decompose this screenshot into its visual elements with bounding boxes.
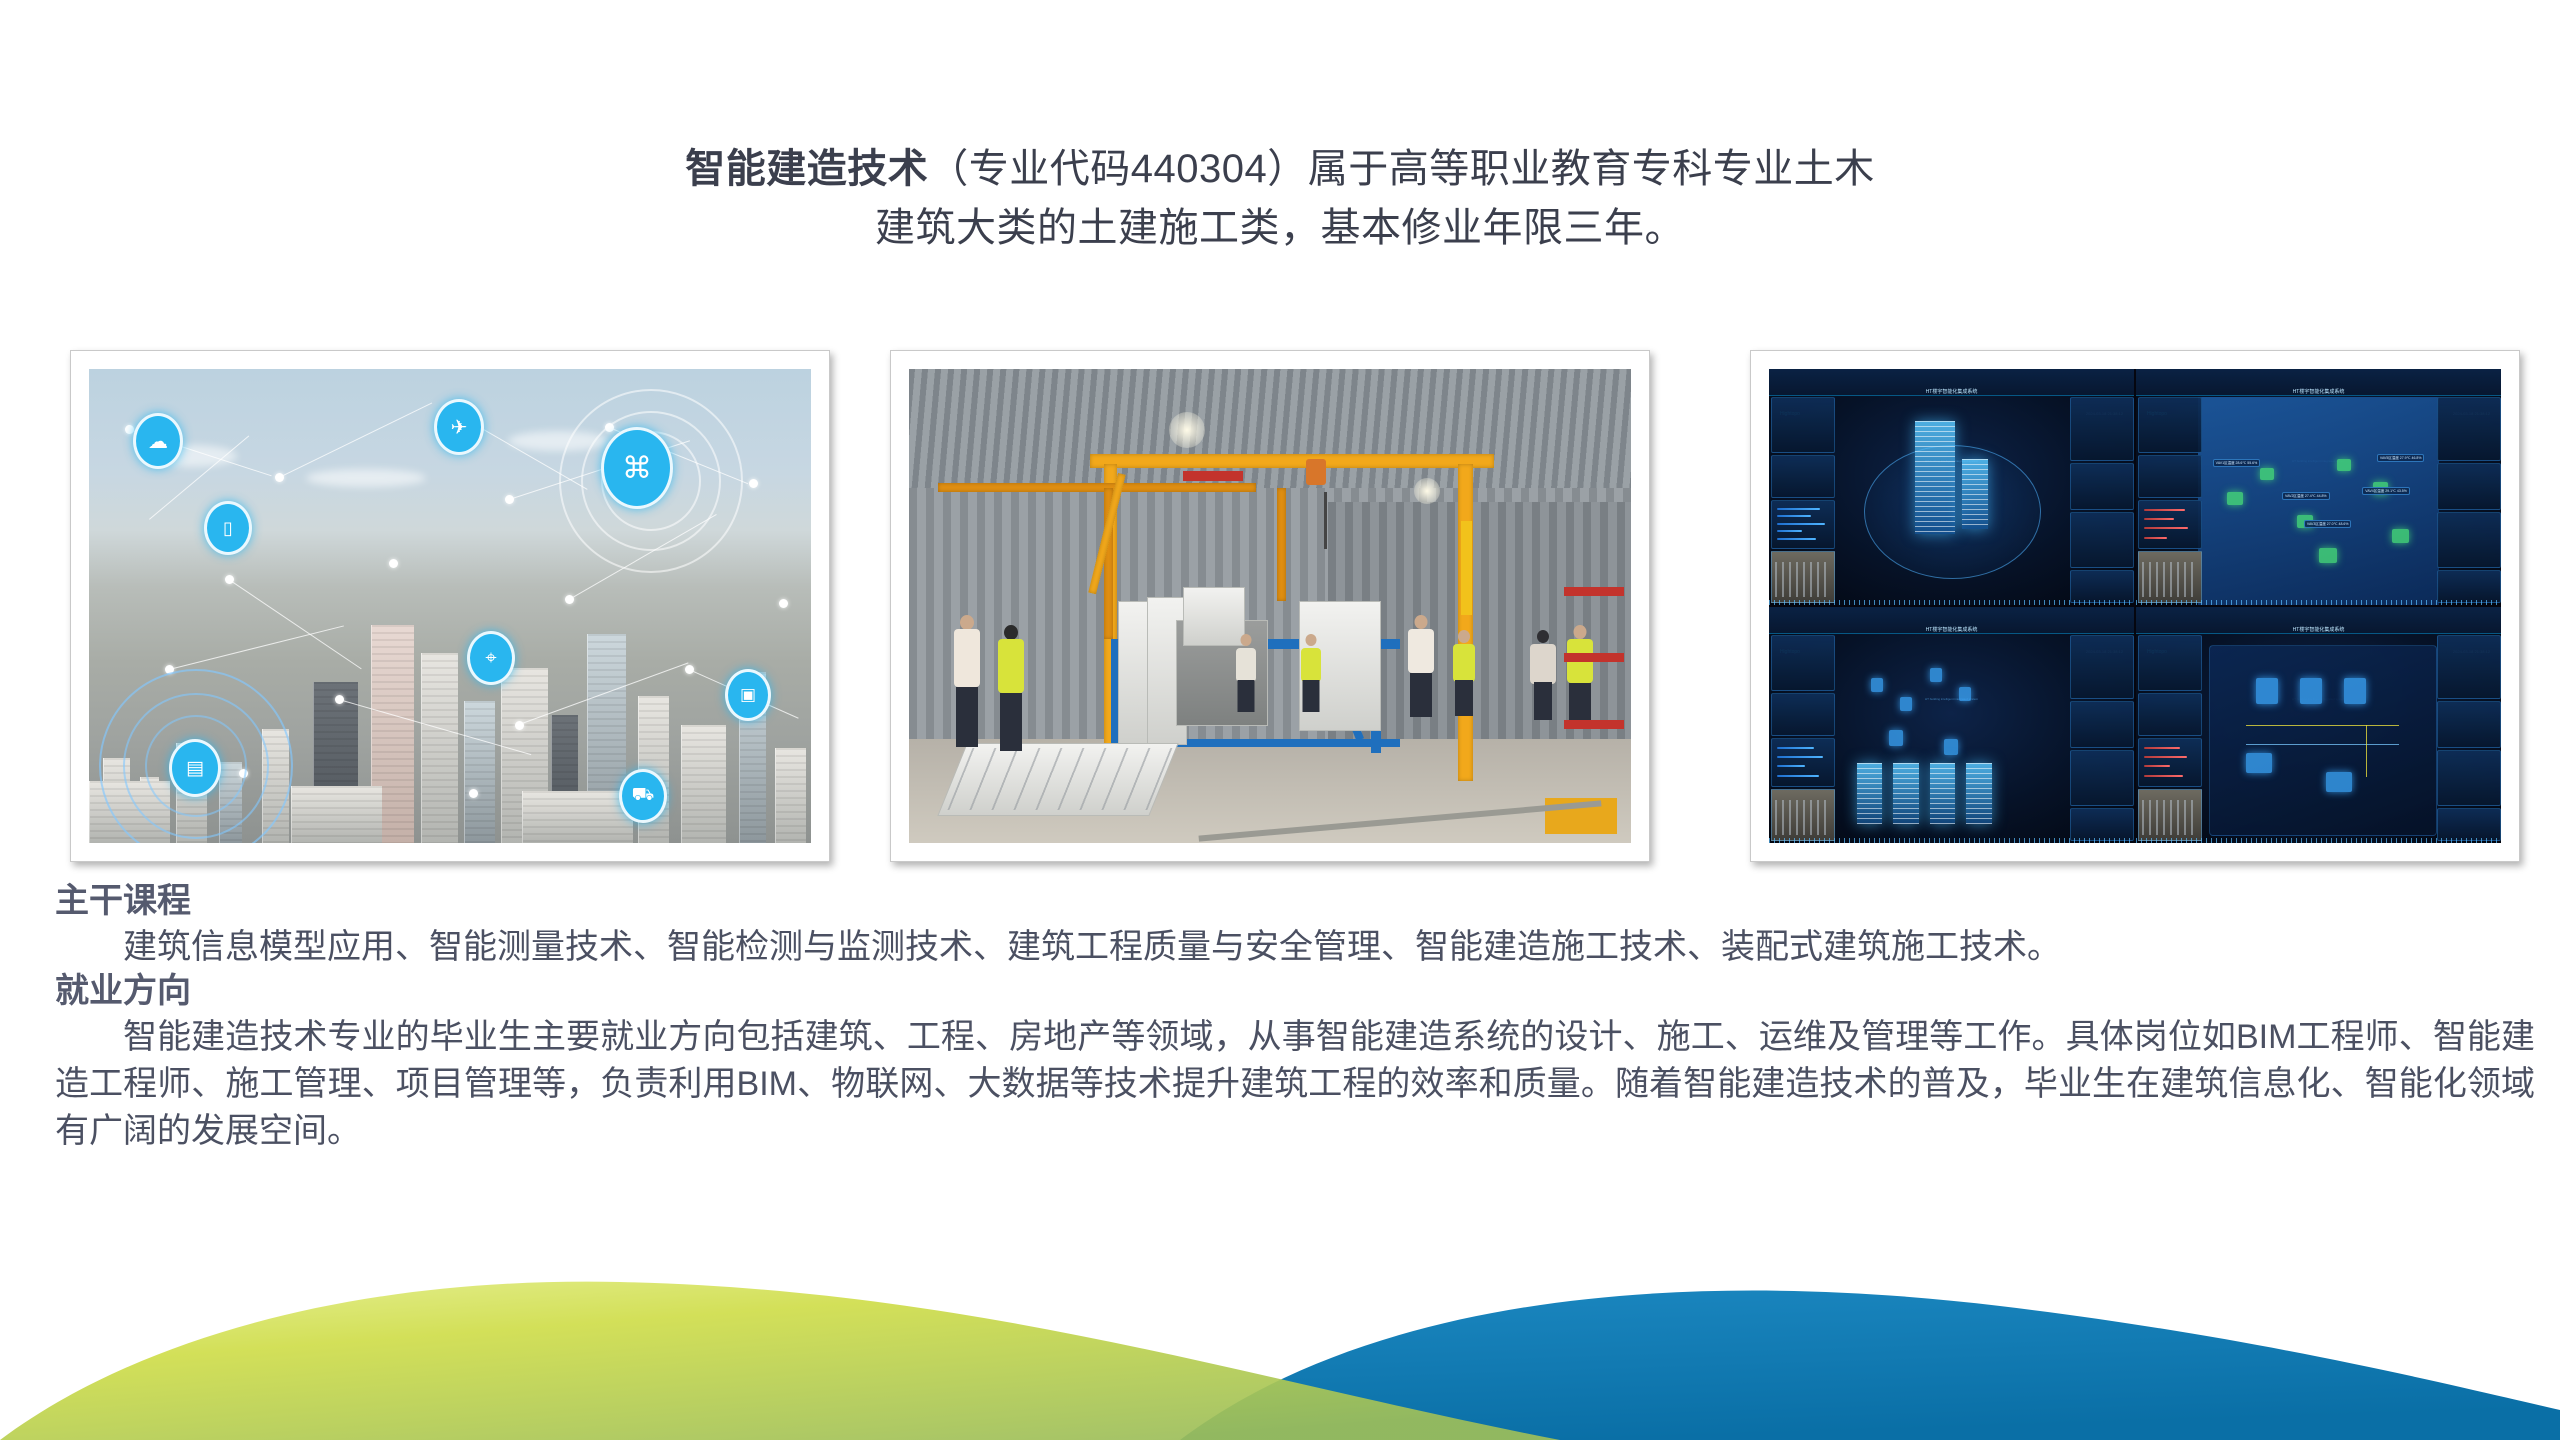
image-frame-bim-dashboard: Hightopo HT楼宇智能化集成系统 HT building intelli… xyxy=(1750,350,2520,862)
person xyxy=(1299,634,1323,757)
person xyxy=(1234,634,1258,757)
sensor-tag: VAV2区温度 27.4℃ 44.8% xyxy=(2282,492,2330,500)
workshop-illustration xyxy=(909,369,1631,843)
person xyxy=(1451,630,1477,763)
title-major-name: 智能建造技术 xyxy=(685,147,928,191)
image-frame-workshop xyxy=(890,350,1650,862)
dashboard-panel-building: Hightopo HT楼宇智能化集成系统 HT building intelli… xyxy=(1769,369,2134,605)
dashboard-panel-pipeline: Hightopo HT楼宇智能化集成系统 HT building intelli… xyxy=(1769,607,2134,843)
bim-dashboard-grid: Hightopo HT楼宇智能化集成系统 HT building intelli… xyxy=(1769,369,2501,843)
section-heading-core-courses: 主干课程 xyxy=(55,880,2535,924)
person xyxy=(1530,630,1556,772)
slide-root: 智能建造技术（专业代码440304）属于高等职业教育专科专业土木 建筑大类的土建… xyxy=(0,0,2560,1440)
bottom-wave-decoration xyxy=(0,1260,2560,1440)
smart-city-illustration: ☁ ✈ ▯ ⌘ ⌖ ▣ ⛟ ▤ xyxy=(89,369,811,843)
sensor-tag: VAV4区温度 29.1℃ 43.5% xyxy=(2362,487,2410,495)
person xyxy=(1566,625,1594,777)
content-body: 主干课程 建筑信息模型应用、智能测量技术、智能检测与监测技术、建筑工程质量与安全… xyxy=(55,880,2535,1155)
monitor-icon: ▣ xyxy=(725,669,771,721)
dashboard-title: HT楼宇智能化集成系统 xyxy=(2293,388,2345,395)
dashboard-title: HT楼宇智能化集成系统 xyxy=(2293,626,2345,633)
image-row: ☁ ✈ ▯ ⌘ ⌖ ▣ ⛟ ▤ xyxy=(0,350,2560,862)
smartphone-icon: ▯ xyxy=(204,501,252,555)
dashboard-panel-chiller: Hightopo HT楼宇智能化集成系统 HT building intelli… xyxy=(2136,607,2501,843)
photo-bim-dashboard: Hightopo HT楼宇智能化集成系统 HT building intelli… xyxy=(1769,369,2501,843)
sensor-tag: VAV1区温度 28.6℃ 55.6% xyxy=(2213,459,2261,467)
cloud-icon: ☁ xyxy=(133,413,183,469)
title-line-1-rest: （专业代码440304）属于高等职业教育专科专业土木 xyxy=(928,147,1874,191)
person xyxy=(1407,615,1435,767)
airplane-icon: ✈ xyxy=(434,399,484,455)
dashboard-title: HT楼宇智能化集成系统 xyxy=(1926,626,1978,633)
dashboard-panel-sensors: Hightopo HT楼宇智能化集成系统 HT building intelli… xyxy=(2136,369,2501,605)
shopping-cart-icon: ⛟ xyxy=(619,769,667,823)
image-frame-smart-city: ☁ ✈ ▯ ⌘ ⌖ ▣ ⛟ ▤ xyxy=(70,350,830,862)
section-body-career: 智能建造技术专业的毕业生主要就业方向包括建筑、工程、房地产等领域，从事智能建造系… xyxy=(55,1014,2535,1155)
title-line-1: 智能建造技术（专业代码440304）属于高等职业教育专科专业土木 xyxy=(0,140,2560,199)
title-line-2: 建筑大类的土建施工类，基本修业年限三年。 xyxy=(0,199,2560,258)
photo-assembly-workshop xyxy=(909,369,1631,843)
section-body-core-courses: 建筑信息模型应用、智能测量技术、智能检测与监测技术、建筑工程质量与安全管理、智能… xyxy=(55,924,2535,971)
photo-smart-city: ☁ ✈ ▯ ⌘ ⌖ ▣ ⛟ ▤ xyxy=(89,369,811,843)
dashboard-title: HT楼宇智能化集成系统 xyxy=(1926,388,1978,395)
sensor-tag: VAV5区温度 27.9℃ 46.8% xyxy=(2377,454,2425,462)
location-pin-icon: ⌖ xyxy=(467,631,515,685)
person xyxy=(996,625,1026,805)
section-heading-career: 就业方向 xyxy=(55,970,2535,1014)
sensor-tag: VAV3区温度 27.0℃ 48.6% xyxy=(2304,520,2352,528)
document-icon: ▤ xyxy=(169,739,221,797)
wifi-icon: ⌘ xyxy=(601,427,673,509)
person xyxy=(952,615,982,805)
page-title: 智能建造技术（专业代码440304）属于高等职业教育专科专业土木 建筑大类的土建… xyxy=(0,140,2560,258)
